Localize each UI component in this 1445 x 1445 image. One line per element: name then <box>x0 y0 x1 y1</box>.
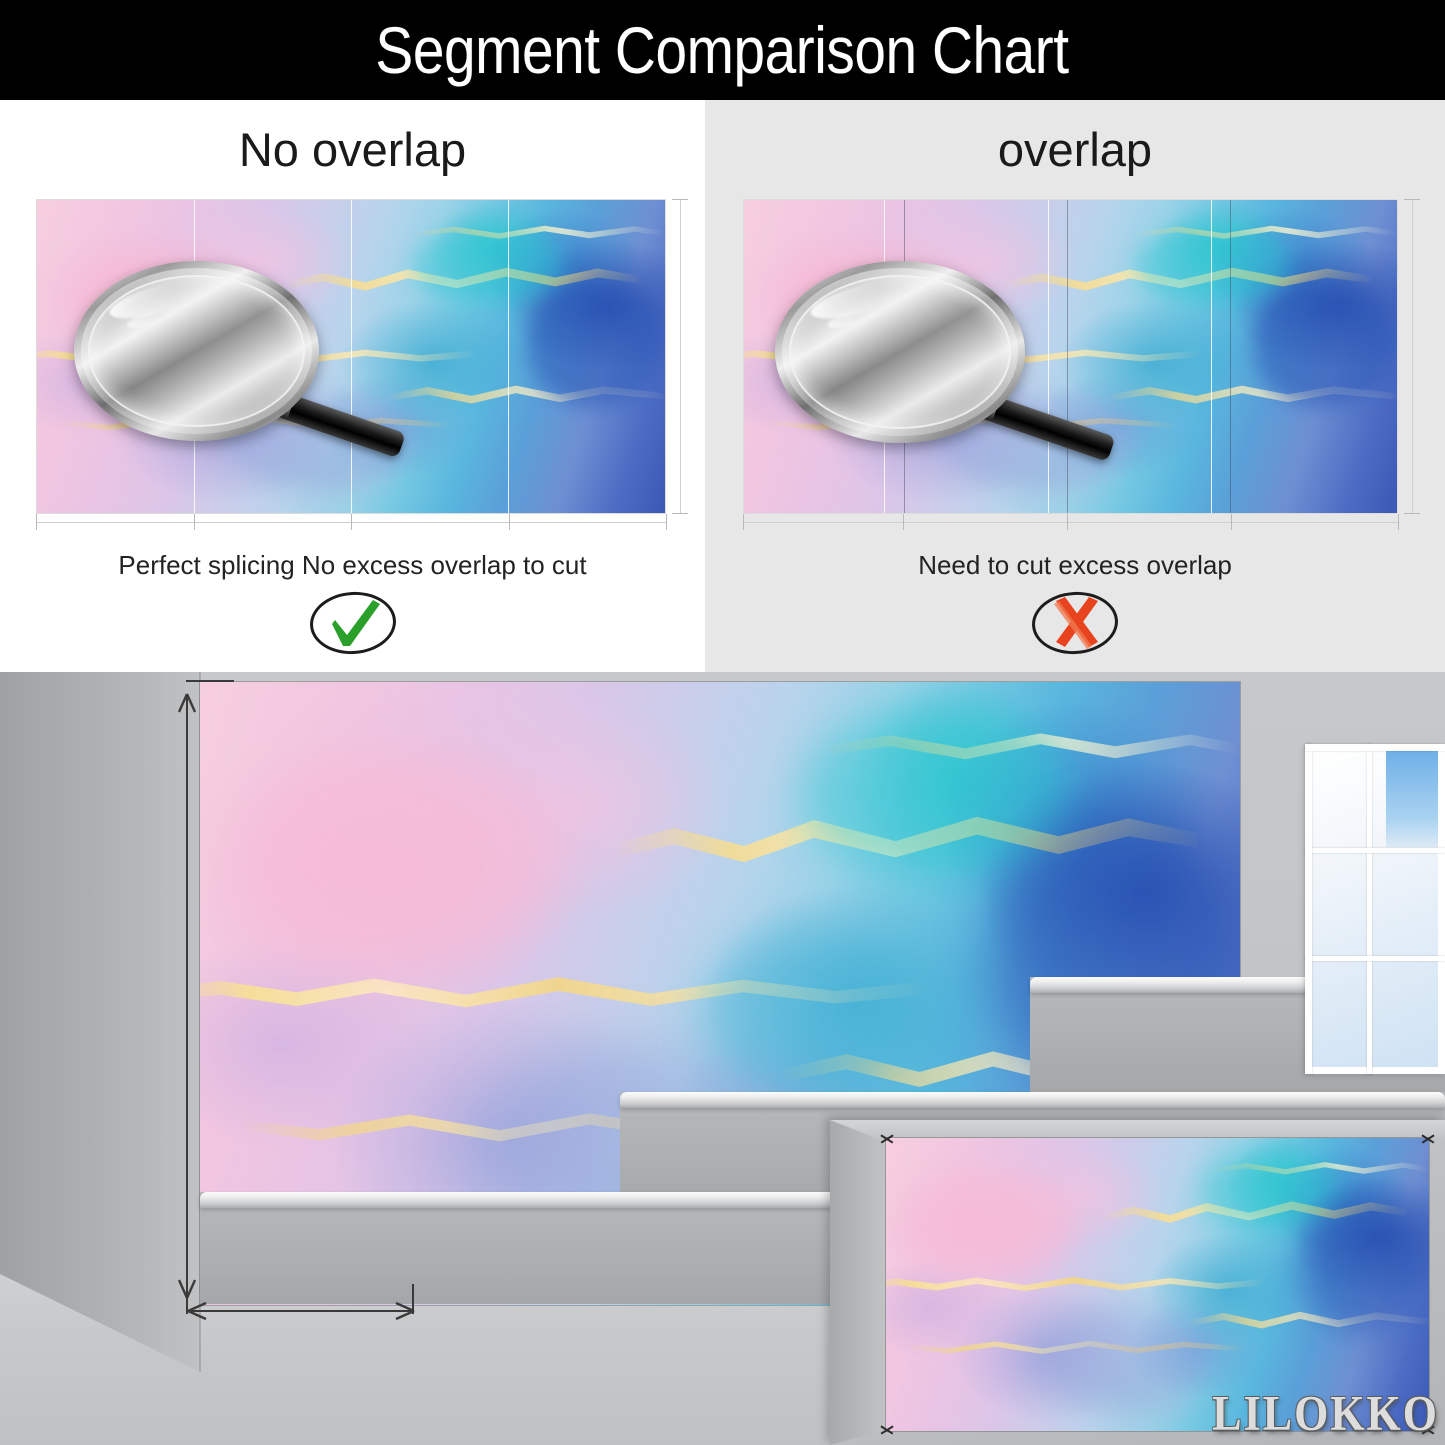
corner-crop-mark <box>880 1132 894 1146</box>
dimension-extension-right <box>412 1284 414 1314</box>
seam-overlap-line <box>1230 200 1231 513</box>
cross-badge <box>1032 592 1118 654</box>
marble-wisp <box>242 757 554 969</box>
ruler-tick <box>672 199 688 200</box>
marble-wisp <box>1253 281 1397 406</box>
check-icon <box>310 592 396 654</box>
gold-vein <box>1103 1191 1407 1229</box>
width-dimension-arrowheads <box>176 1299 426 1323</box>
seam-line <box>351 200 352 513</box>
marble-wisp <box>1299 1202 1429 1331</box>
ruler-baseline <box>1412 199 1413 514</box>
marble-wisp <box>940 394 1136 488</box>
ruler-tick <box>351 514 352 530</box>
step-edge-cap <box>620 1092 1445 1108</box>
ruler-baseline <box>743 522 1398 523</box>
seam-line <box>1048 200 1049 513</box>
window-sky <box>1386 751 1438 847</box>
corner-crop-mark <box>1421 1132 1435 1146</box>
title-bar: Segment Comparison Chart <box>0 0 1445 100</box>
panel-caption-no-overlap: Perfect splicing No excess overlap to cu… <box>0 550 705 581</box>
room-scene: LILOKKO <box>0 672 1445 1445</box>
window-icon <box>1305 744 1445 1074</box>
dimension-extension-top <box>186 680 234 682</box>
thumbnail-no-overlap <box>36 199 666 514</box>
inset-wall-top <box>830 1120 1445 1140</box>
height-dimension-arrowheads <box>176 686 198 1306</box>
horizontal-ruler <box>743 514 1398 530</box>
gold-vein <box>1190 1302 1429 1334</box>
gold-vein <box>1005 256 1371 297</box>
vertical-ruler <box>672 199 688 514</box>
marble-thumbnail-image <box>36 199 666 514</box>
gold-vein <box>62 407 451 435</box>
seam-overlap-line <box>904 200 905 513</box>
gold-vein <box>288 256 640 297</box>
marble-wisp <box>783 256 953 350</box>
thumbnail-overlap <box>743 199 1398 514</box>
check-badge <box>310 592 396 654</box>
ruler-tick <box>1398 514 1399 530</box>
vertical-ruler <box>1404 199 1420 514</box>
marble-wisp <box>1027 1308 1212 1408</box>
marble-wisp <box>803 707 1073 881</box>
gold-vein <box>389 375 665 409</box>
ruler-tick <box>509 514 510 530</box>
marble-wisp <box>527 281 665 406</box>
seam-line <box>508 200 509 513</box>
gold-vein <box>770 407 1175 435</box>
gold-vein <box>824 719 1240 769</box>
panel-caption-overlap: Need to cut excess overlap <box>705 550 1445 581</box>
verdict-badge-bad-wrap <box>705 592 1445 654</box>
ruler-tick <box>1404 199 1420 200</box>
gold-vein <box>1136 219 1397 244</box>
page-title: Segment Comparison Chart <box>376 12 1069 88</box>
seam-overlap-line <box>1067 200 1068 513</box>
window-mullion-horizontal <box>1305 848 1445 853</box>
window-mullion-horizontal <box>1305 956 1445 961</box>
window-frame-top <box>1305 744 1445 751</box>
verdict-badge-good-wrap <box>0 592 705 654</box>
gold-vein <box>908 1331 1245 1357</box>
panel-heading-no-overlap: No overlap <box>0 100 705 177</box>
marble-wisp <box>1201 1150 1342 1232</box>
inset-wall-left <box>830 1120 888 1445</box>
dimension-extension-left <box>186 1284 188 1314</box>
comparison-section: No overlap <box>0 100 1445 672</box>
gold-vein <box>886 1267 1266 1296</box>
ruler-tick <box>903 514 904 530</box>
marble-wisp <box>75 256 238 350</box>
marble-thumbnail-image <box>743 199 1398 514</box>
cross-icon <box>1032 592 1118 654</box>
marble-wisp <box>908 1173 1071 1273</box>
gold-vein <box>616 794 1198 875</box>
gold-vein <box>36 338 477 369</box>
horizontal-ruler <box>36 514 666 530</box>
ruler-tick <box>743 514 744 530</box>
ruler-tick <box>1404 513 1420 514</box>
gold-vein <box>1110 375 1397 409</box>
gold-vein <box>1212 1156 1429 1179</box>
window-mullion-vertical <box>1367 744 1372 1074</box>
marble-wisp <box>699 931 928 1093</box>
ruler-tick <box>36 514 37 530</box>
window-frame-left <box>1305 744 1312 1074</box>
marble-wisp <box>1136 225 1293 306</box>
corner-crop-mark <box>880 1423 894 1437</box>
ruler-tick <box>666 514 667 530</box>
ruler-tick <box>1067 514 1068 530</box>
ruler-tick <box>194 514 195 530</box>
panel-heading-overlap: overlap <box>705 100 1445 177</box>
ruler-baseline <box>680 199 681 514</box>
marble-pattern <box>744 200 1397 513</box>
comparison-panel-no-overlap: No overlap <box>0 100 705 672</box>
marble-wisp <box>225 394 413 488</box>
ruler-tick <box>1231 514 1232 530</box>
brand-watermark: LILOKKO <box>1212 1385 1439 1442</box>
comparison-panel-overlap: overlap <box>705 100 1445 672</box>
gold-vein <box>200 956 928 1018</box>
inset-preview-card: LILOKKO <box>830 1120 1445 1445</box>
gold-vein <box>414 219 665 244</box>
ruler-tick <box>672 513 688 514</box>
seam-line <box>194 200 195 513</box>
gold-vein <box>743 338 1201 369</box>
seam-line <box>884 200 885 513</box>
marble-wisp <box>414 225 565 306</box>
seam-line <box>1211 200 1212 513</box>
left-wall <box>0 672 200 1372</box>
